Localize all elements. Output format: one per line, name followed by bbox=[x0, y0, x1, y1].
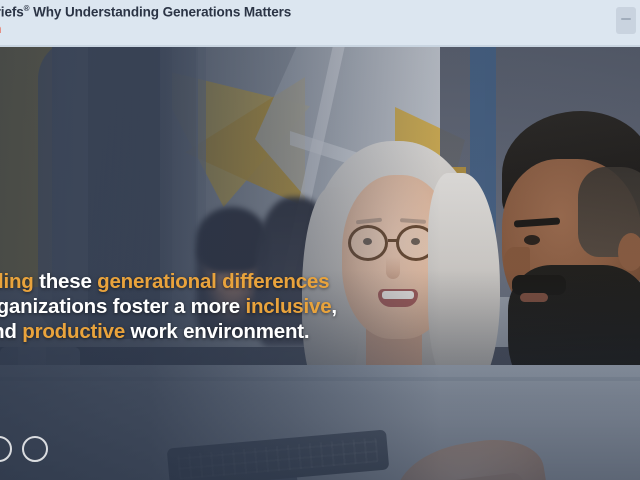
headline-run-2-3: , bbox=[331, 295, 337, 318]
headline-run-1-3: generational differences bbox=[97, 270, 329, 293]
page-header: Briefs® Why Understanding Generations Ma… bbox=[0, 0, 640, 47]
page-title-prefix: Briefs bbox=[0, 5, 24, 20]
page-root: Briefs® Why Understanding Generations Ma… bbox=[0, 0, 640, 480]
headline-run-1-2: these bbox=[39, 270, 97, 293]
panel-toggle-icon[interactable] bbox=[616, 7, 636, 34]
headline-run-2-1: elp organizations foster a more bbox=[0, 295, 245, 318]
hero-photo bbox=[0, 47, 640, 480]
headline-line-2: elp organizations foster a more inclusiv… bbox=[0, 294, 362, 319]
page-subtitle: ion bbox=[0, 21, 2, 36]
headline-run-1-1: rstanding bbox=[0, 270, 39, 293]
headline-run-3-2: , and bbox=[0, 320, 22, 343]
headline-run-3-4: work environment. bbox=[125, 320, 309, 343]
headline-run-2-2: inclusive bbox=[245, 295, 331, 318]
headline-line-3: ive, and productive work environment. bbox=[0, 319, 362, 344]
hero-banner[interactable]: rstanding these generational differences… bbox=[0, 47, 640, 480]
headline-run-3-3: productive bbox=[22, 320, 125, 343]
page-title: Briefs® Why Understanding Generations Ma… bbox=[0, 4, 291, 20]
carousel-dot-1[interactable] bbox=[0, 436, 12, 462]
hero-headline: rstanding these generational differences… bbox=[0, 269, 362, 344]
headline-line-1: rstanding these generational differences bbox=[0, 269, 362, 294]
page-title-rest: Why Understanding Generations Matters bbox=[29, 5, 291, 20]
carousel-indicators bbox=[0, 436, 48, 462]
carousel-dot-2[interactable] bbox=[22, 436, 48, 462]
